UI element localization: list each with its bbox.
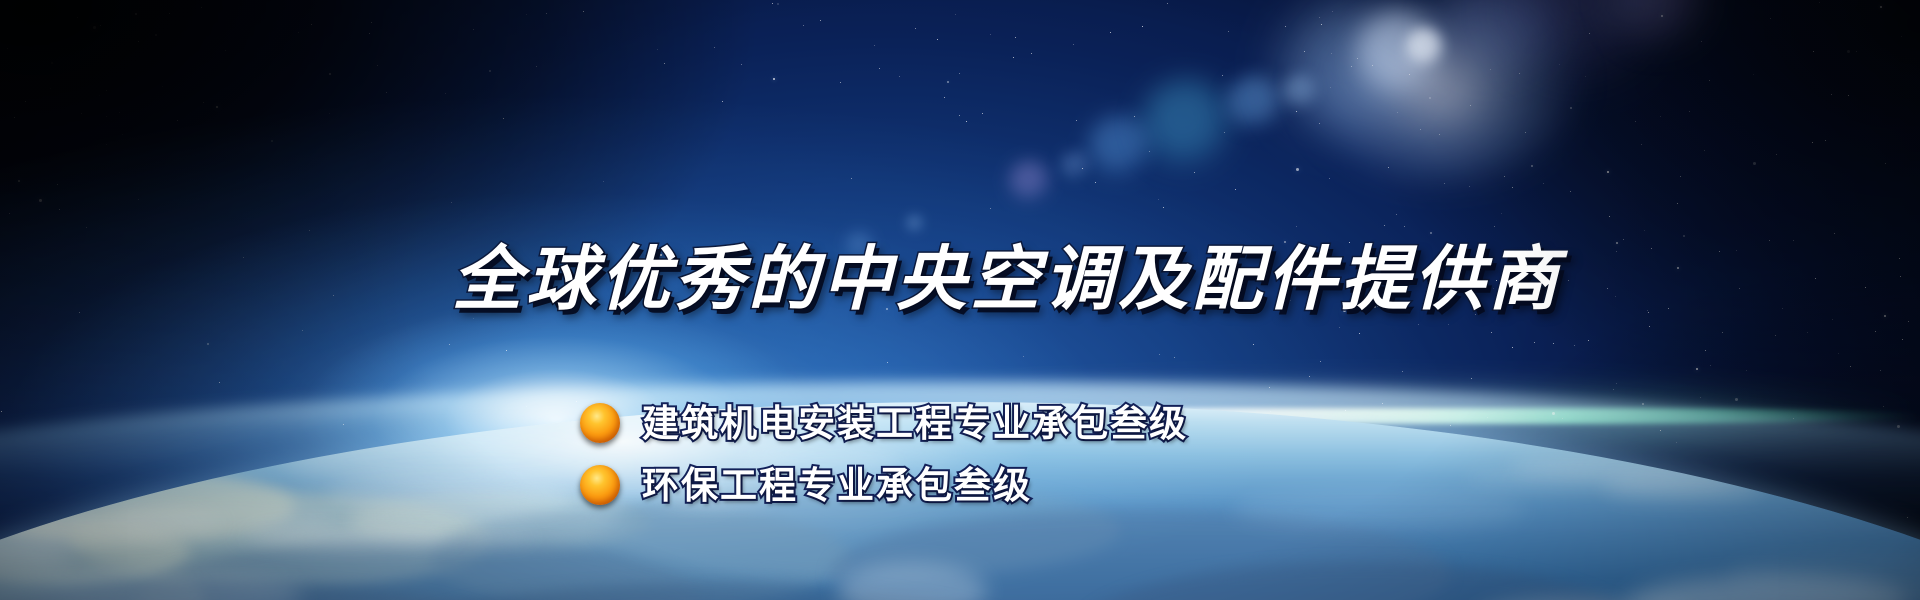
banner-content: 全球优秀的中央空调及配件提供商 建筑机电安装工程专业承包叁级 环保工程专业承包叁…	[0, 0, 1920, 600]
orange-dot-bullet-icon	[580, 403, 620, 443]
bullet-label: 建筑机电安装工程专业承包叁级	[642, 405, 1188, 442]
orange-dot-bullet-icon	[580, 465, 620, 505]
list-item: 环保工程专业承包叁级	[580, 454, 1188, 516]
banner-bullet-list: 建筑机电安装工程专业承包叁级 环保工程专业承包叁级	[580, 392, 1188, 516]
list-item: 建筑机电安装工程专业承包叁级	[580, 392, 1188, 454]
banner-headline: 全球优秀的中央空调及配件提供商	[452, 244, 1562, 314]
hero-banner: 全球优秀的中央空调及配件提供商 建筑机电安装工程专业承包叁级 环保工程专业承包叁…	[0, 0, 1920, 600]
bullet-label: 环保工程专业承包叁级	[642, 467, 1032, 504]
